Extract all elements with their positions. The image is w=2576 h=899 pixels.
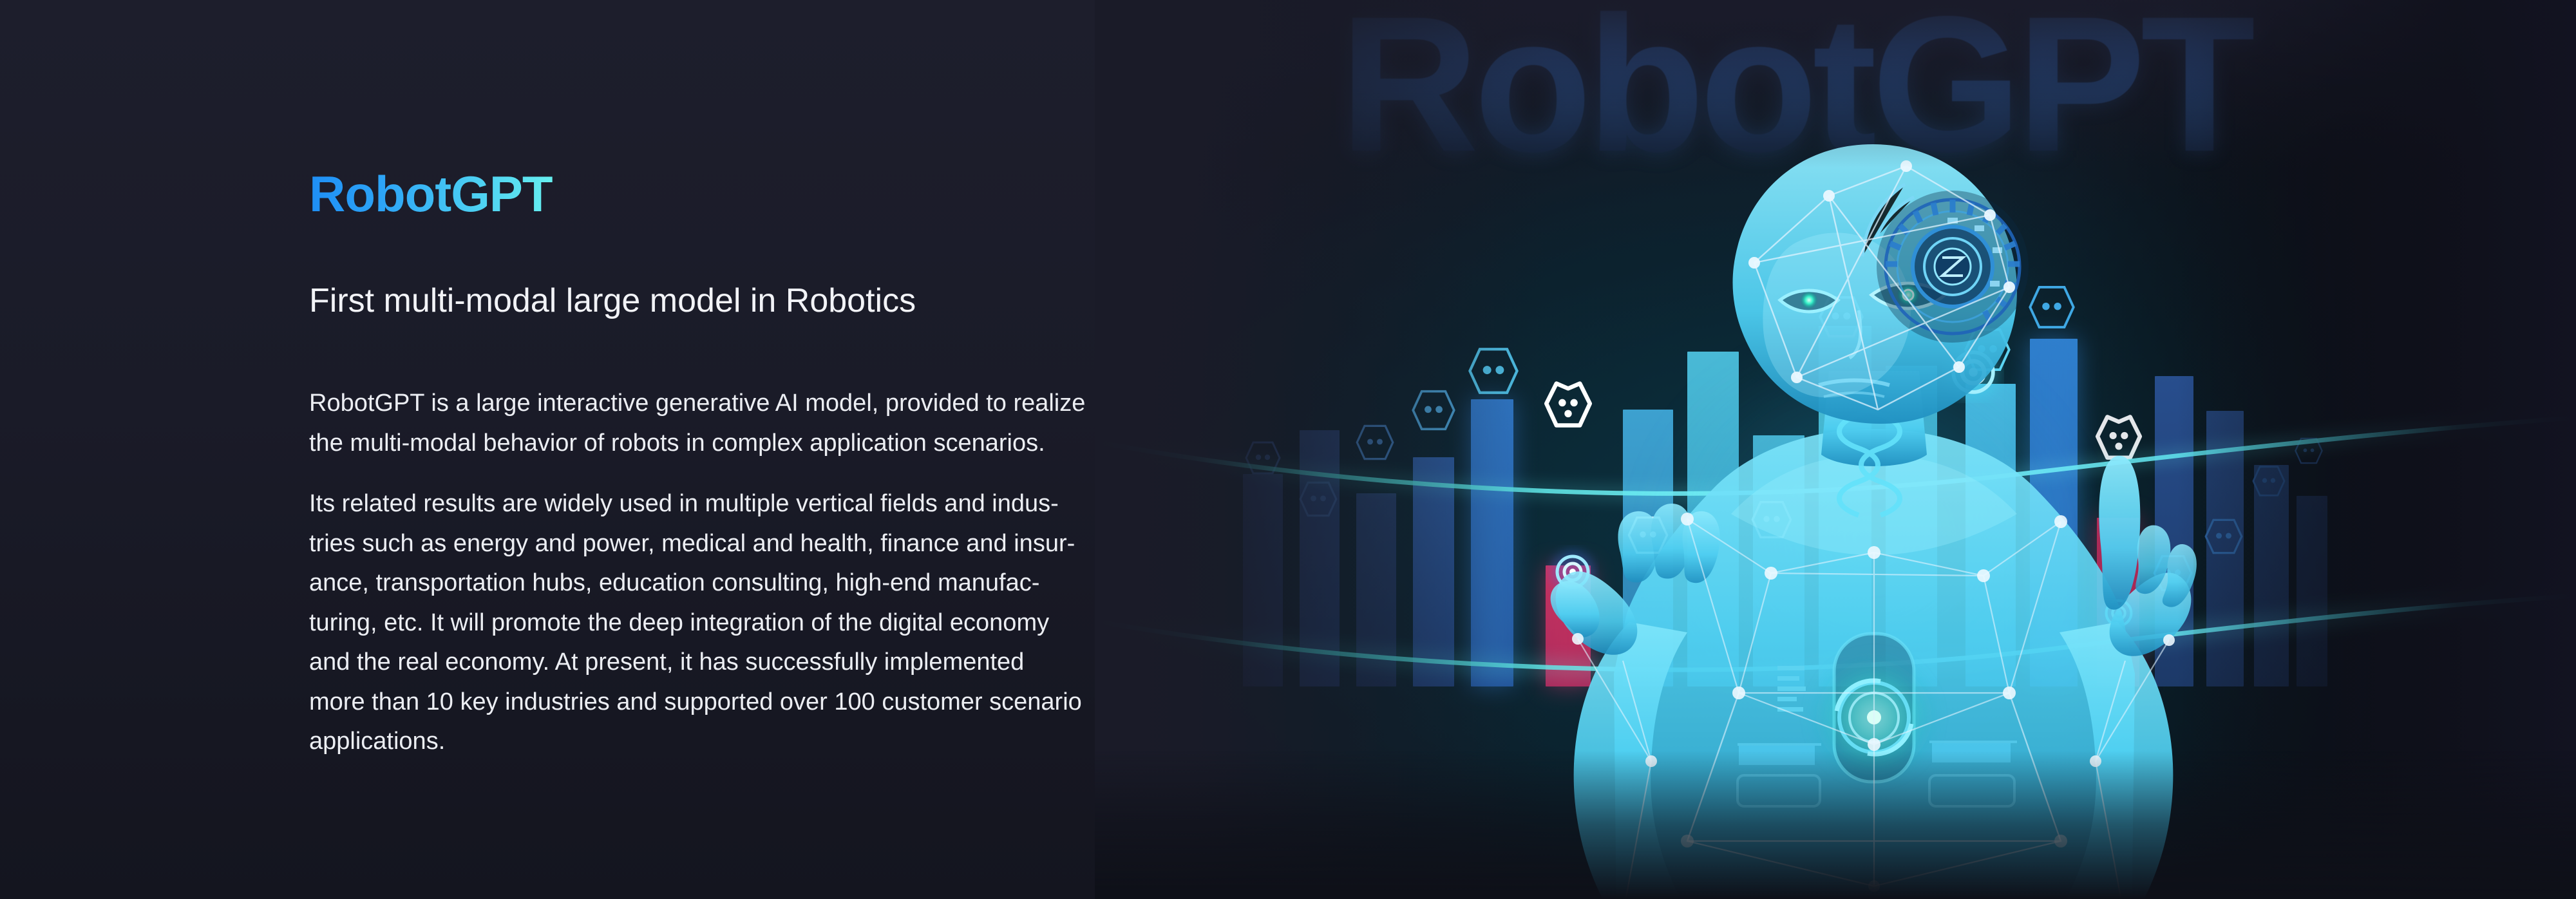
paragraph-line: the multi-modal behavior of robots in co…: [309, 424, 1207, 464]
page-title: RobotGPT: [309, 169, 553, 219]
paragraph-line: applications.: [309, 722, 1207, 762]
paragraph-line: ance, transportation hubs, education con…: [309, 563, 1207, 603]
artwork-bottom-blend: [1095, 751, 2576, 899]
intro-paragraph: RobotGPT is a large interactive generati…: [309, 384, 1207, 463]
paragraph-line: turing, etc. It will promote the deep in…: [309, 603, 1207, 643]
paragraph-line: more than 10 key industries and supporte…: [309, 683, 1207, 723]
page-subtitle: First multi-modal large model in Robotic…: [309, 282, 916, 321]
paragraph-line: and the real economy. At present, it has…: [309, 643, 1207, 683]
paragraph-line: tries such as energy and power, medical …: [309, 524, 1207, 564]
paragraph-line: Its related results are widely used in m…: [309, 484, 1207, 524]
artwork-panel: RobotGPT RobotGPT: [1095, 0, 2576, 899]
banner-root: RobotGPT RobotGPT: [0, 0, 2576, 899]
paragraph-line: RobotGPT is a large interactive generati…: [309, 384, 1207, 424]
detail-paragraph: Its related results are widely used in m…: [309, 484, 1207, 762]
